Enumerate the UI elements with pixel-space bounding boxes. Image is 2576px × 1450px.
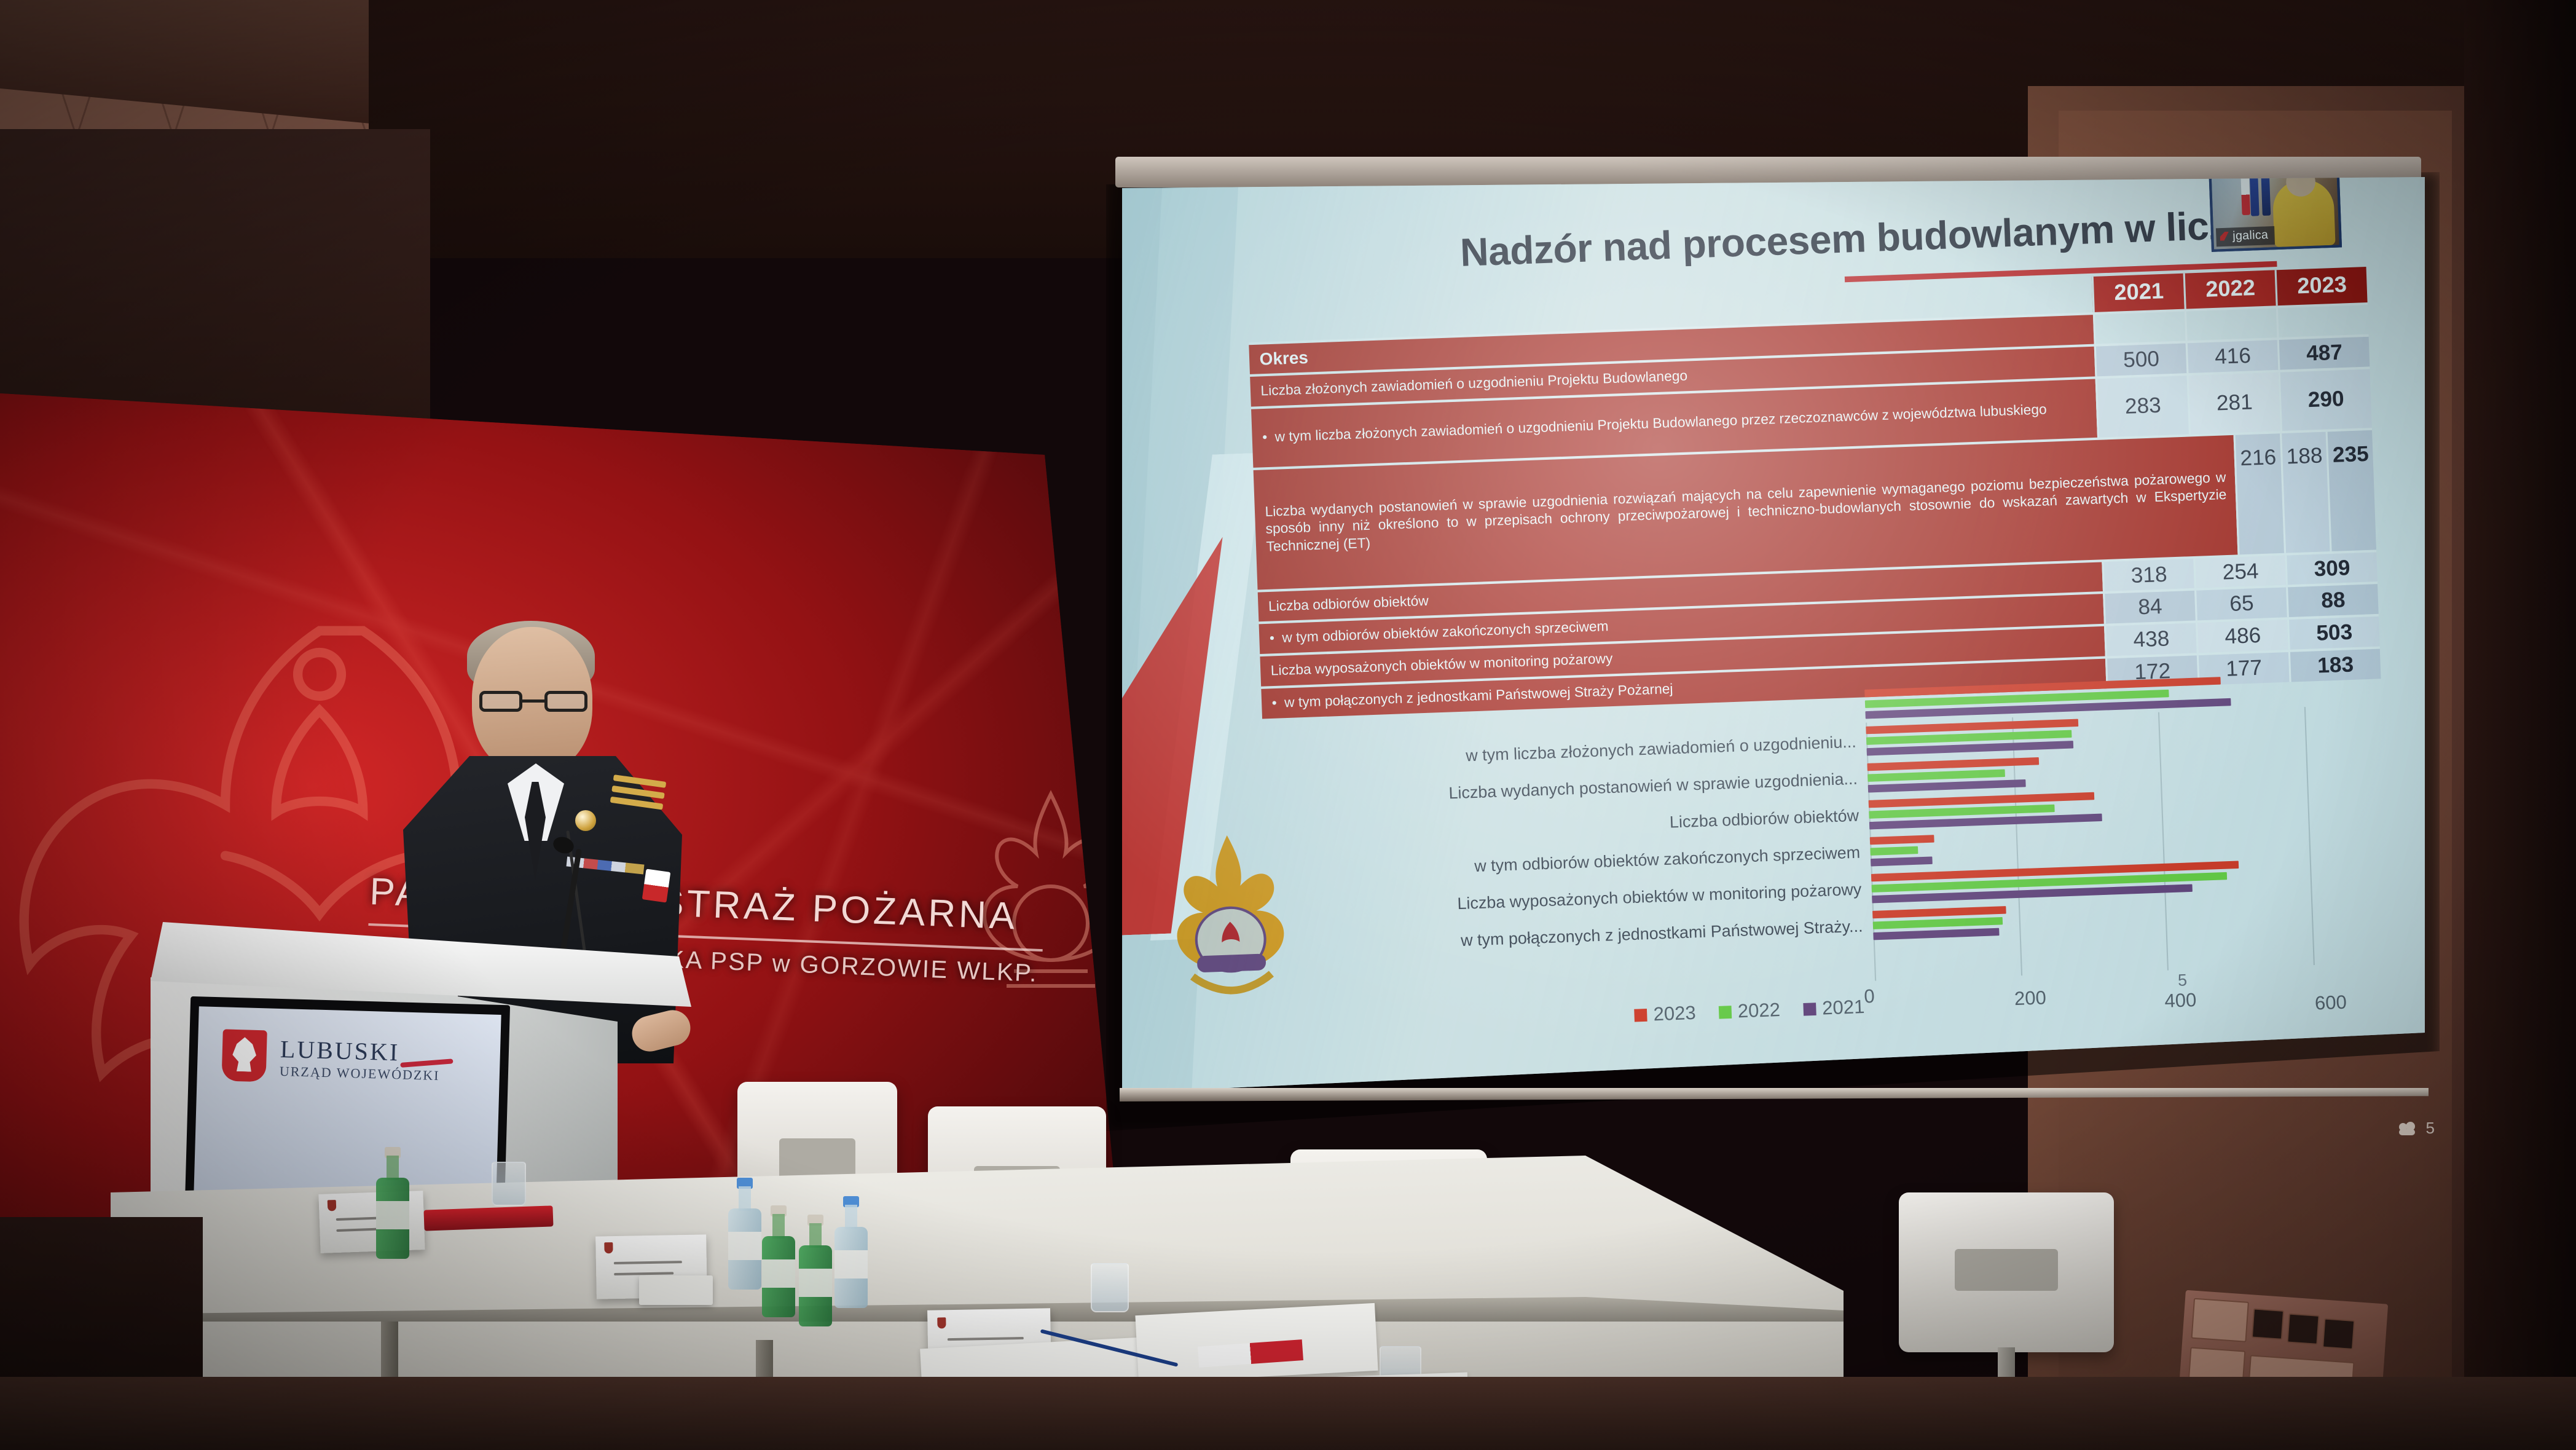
stats-table: 2021 2022 2023 Okres Liczba złożonych za… xyxy=(1247,267,2381,719)
column-header-2023: 2023 xyxy=(2275,267,2368,305)
bottle-neck xyxy=(845,1205,857,1229)
tissue-box xyxy=(639,1275,713,1305)
chart-bar-2023 xyxy=(1867,757,2039,771)
crest-icon xyxy=(604,1242,613,1253)
okres-blank-2021 xyxy=(2093,312,2186,344)
column-header-2021: 2021 xyxy=(2092,274,2185,312)
legend-label-2023: 2023 xyxy=(1653,1003,1696,1026)
bottle-neck xyxy=(772,1214,785,1239)
socket-port xyxy=(2322,1318,2355,1350)
legend-item-2021: 2021 xyxy=(1803,996,1865,1020)
name-line xyxy=(948,1337,1024,1341)
flag-eu-icon xyxy=(2250,177,2260,216)
bottle-label xyxy=(376,1201,409,1229)
chart-bar-2022 xyxy=(1867,770,2005,782)
chart-bar-2021 xyxy=(1871,856,1932,866)
chart-legend: 2023 2022 2021 xyxy=(1634,996,1865,1026)
flag-eu-icon-2 xyxy=(2261,177,2271,216)
chart-bar-2021 xyxy=(1868,779,2026,793)
cell-2023: 503 xyxy=(2287,617,2380,650)
chart-xtick: 400 xyxy=(2164,990,2197,1012)
cell-2023: 309 xyxy=(2285,552,2378,585)
crest-icon xyxy=(328,1200,337,1211)
floor xyxy=(0,1377,2576,1450)
video-thumbnail[interactable]: jgalica xyxy=(2208,177,2342,252)
name-line xyxy=(614,1261,683,1264)
cell-2022: 416 xyxy=(2186,340,2279,373)
socket-port xyxy=(2287,1314,2319,1345)
column-header-2022: 2022 xyxy=(2183,270,2276,309)
bullet-icon: • xyxy=(1269,629,1274,647)
bottle-label xyxy=(762,1259,795,1288)
cell-2022: 486 xyxy=(2196,620,2288,653)
row-label-text: w tym połączonych z jednostkami Państwow… xyxy=(1284,680,1673,711)
bottle-label xyxy=(834,1250,868,1279)
eyeglasses-icon xyxy=(479,691,587,712)
legend-swatch-2022 xyxy=(1719,1006,1732,1019)
bottle-neck xyxy=(809,1223,822,1248)
cell-2021: 84 xyxy=(2103,591,2196,624)
flag-patch-icon xyxy=(642,869,671,902)
okres-blank-2023 xyxy=(2276,305,2369,337)
cell-2023: 235 xyxy=(2326,430,2376,551)
chart-xtick: 0 xyxy=(1864,986,1875,1008)
cell-2023: 88 xyxy=(2286,585,2379,618)
chart-bar-2023 xyxy=(1872,906,2006,918)
cell-2022: 65 xyxy=(2194,588,2287,621)
polish-crest-icon xyxy=(221,1029,267,1082)
drinking-glass xyxy=(1091,1263,1129,1312)
chair-back-slot xyxy=(779,1138,856,1180)
socket-plate xyxy=(2191,1298,2249,1342)
photo-scene: PAŃSTWOWA STRAŻ POŻARNA KOMENDA WOJEWÓDZ… xyxy=(0,0,2576,1450)
chair-back-slot xyxy=(1955,1249,2058,1290)
bottle-label xyxy=(728,1232,761,1260)
drinking-glass xyxy=(492,1162,526,1206)
chart-bar-2022 xyxy=(1870,846,1918,856)
slide-number: 5 xyxy=(2178,971,2188,991)
people-icon xyxy=(2399,1122,2420,1135)
cell-2022: 188 xyxy=(2280,431,2330,553)
crest-icon xyxy=(937,1317,946,1328)
chart-category-labels: w tym liczba złożonych zawiadomień o uzg… xyxy=(1230,723,1874,967)
legend-label-2021: 2021 xyxy=(1822,996,1865,1020)
uniform-badge-icon xyxy=(575,810,596,831)
row-label-text: w tym odbiorów obiektów zakończonych spr… xyxy=(1282,618,1609,647)
cell-2021: 500 xyxy=(2094,343,2187,376)
cell-2022: 281 xyxy=(2187,372,2280,434)
bar-chart: w tym liczba złożonych zawiadomień o uzg… xyxy=(1230,704,2411,1076)
legend-swatch-2021 xyxy=(1803,1003,1816,1015)
cell-2021: 283 xyxy=(2095,376,2189,437)
bullet-icon: • xyxy=(1271,694,1277,712)
legend-item-2023: 2023 xyxy=(1634,1003,1696,1026)
chart-bar-2023 xyxy=(1870,835,1934,845)
legend-label-2022: 2022 xyxy=(1737,999,1780,1023)
presentation-slide: Nadzór nad procesem budowlanym w liczbac… xyxy=(1122,177,2425,1093)
legend-swatch-2023 xyxy=(1634,1009,1647,1022)
participant-name-badge: jgalica xyxy=(2216,226,2275,246)
bottle-neck xyxy=(387,1156,399,1180)
cell-2021: 216 xyxy=(2233,433,2283,554)
bullet-icon: • xyxy=(1262,428,1268,446)
row-label-text: w tym liczba złożonych zawiadomień o uzg… xyxy=(1274,401,2047,446)
socket-port xyxy=(2252,1308,2284,1339)
bottle-neck xyxy=(739,1186,751,1211)
cell-2021: 438 xyxy=(2104,623,2197,656)
cell-2023: 487 xyxy=(2277,337,2370,370)
flag-pl-icon xyxy=(2240,177,2250,215)
wall-far-right-dark xyxy=(2464,0,2576,1450)
viewer-count-value: 5 xyxy=(2426,1119,2435,1138)
viewer-count: 5 xyxy=(2399,1119,2435,1138)
cell-2023: 290 xyxy=(2279,369,2372,430)
cell-2022: 254 xyxy=(2193,556,2286,589)
bottle-label xyxy=(799,1269,832,1297)
okres-blank-2022 xyxy=(2185,308,2277,341)
chart-plot-area xyxy=(1866,707,2314,980)
projection-screen: Nadzór nad procesem budowlanym w liczbac… xyxy=(1122,177,2425,1093)
chart-bar-2022 xyxy=(1873,917,2003,929)
chart-xtick: 200 xyxy=(2014,987,2046,1010)
chart-xtick: 600 xyxy=(2314,992,2347,1015)
chart-bar-2021 xyxy=(1873,928,1999,940)
lubuski-logo: LUBUSKI URZĄD WOJEWÓDZKI xyxy=(221,1029,441,1087)
cell-2021: 318 xyxy=(2102,559,2194,592)
legend-item-2022: 2022 xyxy=(1718,999,1780,1023)
lubuski-title: LUBUSKI xyxy=(280,1034,400,1065)
